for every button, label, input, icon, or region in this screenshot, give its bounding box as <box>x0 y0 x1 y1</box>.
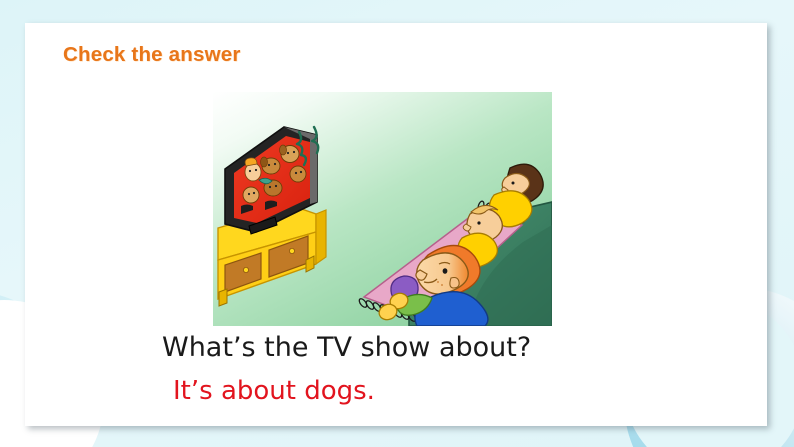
page-title: Check the answer <box>63 43 241 67</box>
slide-stage: Check the answer <box>0 0 794 447</box>
slide-card: Check the answer <box>25 23 767 426</box>
question-caption: What’s the TV show about? <box>162 332 531 363</box>
kids-watching-tv-illustration <box>213 92 552 326</box>
answer-caption: It’s about dogs. <box>173 376 375 406</box>
